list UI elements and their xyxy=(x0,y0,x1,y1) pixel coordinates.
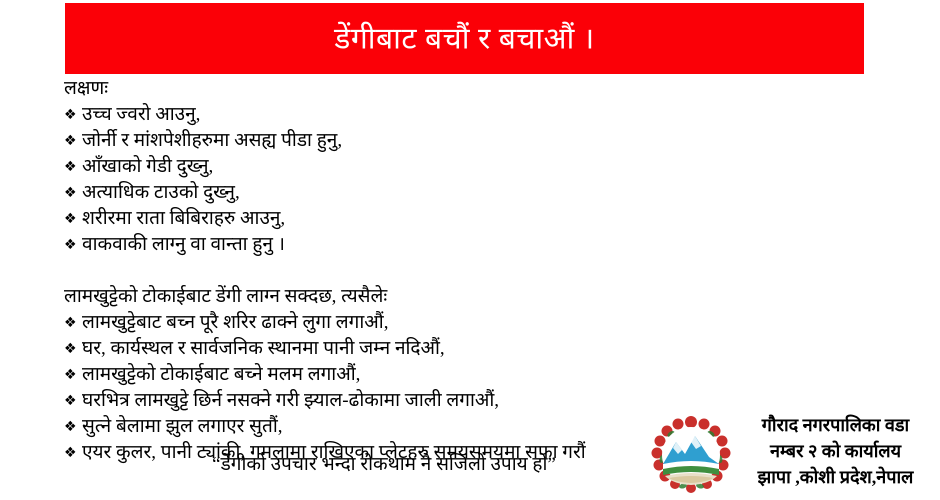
bullet-diamond-icon: ❖ xyxy=(64,414,77,440)
list-item-label: आँखाको गेडी दुख्नु, xyxy=(82,156,213,177)
title-banner: डेंगीबाट बचौं र बचाऔं । xyxy=(65,3,864,74)
bullet-diamond-icon: ❖ xyxy=(64,180,77,206)
list-item-label: उच्च ज्वरो आउनु, xyxy=(82,104,200,125)
bullet-diamond-icon: ❖ xyxy=(64,232,77,258)
bullet-diamond-icon: ❖ xyxy=(64,362,77,388)
office-address-line-2: नम्बर २ को कार्यालय xyxy=(733,438,938,464)
symptoms-section: लक्षणः ❖ उच्च ज्वरो आउनु, ❖ जोर्नी र मां… xyxy=(64,76,764,258)
list-item: ❖ आँखाको गेडी दुख्नु, xyxy=(64,154,764,180)
office-address-line-3: झापा ,कोशी प्रदेश,नेपाल xyxy=(733,464,938,490)
bullet-diamond-icon: ❖ xyxy=(64,336,77,362)
list-item: ❖ वाकवाकी लाग्नु वा वान्ता हुनु । xyxy=(64,232,764,258)
list-item: ❖ लामखुट्टेबाट बच्न पूरै शरिर ढाक्ने लुग… xyxy=(64,310,764,336)
symptoms-heading: लक्षणः xyxy=(64,76,764,102)
poster-body: लक्षणः ❖ उच्च ज्वरो आउनु, ❖ जोर्नी र मां… xyxy=(64,76,764,466)
bullet-diamond-icon: ❖ xyxy=(64,388,77,414)
prevention-heading: लामखुट्टेको टोकाईबाट डेंगी लाग्न सक्दछ, … xyxy=(64,284,764,310)
bullet-diamond-icon: ❖ xyxy=(64,154,77,180)
list-item: ❖ घर, कार्यस्थल र सार्वजनिक स्थानमा पानी… xyxy=(64,336,764,362)
list-item-label: शरीरमा राता बिबिराहरु आउनु, xyxy=(82,208,285,229)
list-item: ❖ उच्च ज्वरो आउनु, xyxy=(64,102,764,128)
nepal-government-emblem-icon xyxy=(647,414,735,500)
office-address-line-1: गौराद नगरपालिका वडा xyxy=(733,412,938,438)
bullet-diamond-icon: ❖ xyxy=(64,102,77,128)
closing-quote: “डेंगीको उपचार भन्दा रोकथाम नै सजिलो उपा… xyxy=(64,452,704,478)
list-item-label: लामखुट्टेबाट बच्न पूरै शरिर ढाक्ने लुगा … xyxy=(82,312,388,333)
poster-title: डेंगीबाट बचौं र बचाऔं । xyxy=(65,22,864,55)
bullet-diamond-icon: ❖ xyxy=(64,310,77,336)
list-item: ❖ शरीरमा राता बिबिराहरु आउनु, xyxy=(64,206,764,232)
section-spacer xyxy=(64,258,764,284)
list-item-label: घरभित्र लामखुट्टे छिर्न नसक्ने गरी झ्याल… xyxy=(82,390,499,411)
list-item: ❖ जोर्नी र मांशपेशीहरुमा असह्य पीडा हुनु… xyxy=(64,128,764,154)
list-item-label: वाकवाकी लाग्नु वा वान्ता हुनु । xyxy=(82,234,285,255)
office-address-block: गौराद नगरपालिका वडा नम्बर २ को कार्यालय … xyxy=(733,412,938,490)
list-item-label: घर, कार्यस्थल र सार्वजनिक स्थानमा पानी ज… xyxy=(82,338,445,359)
list-item-label: जोर्नी र मांशपेशीहरुमा असह्य पीडा हुनु, xyxy=(82,130,342,151)
bullet-diamond-icon: ❖ xyxy=(64,206,77,232)
list-item-label: लामखुट्टेको टोकाईबाट बच्ने मलम लगाऔं, xyxy=(82,364,360,385)
list-item: ❖ घरभित्र लामखुट्टे छिर्न नसक्ने गरी झ्य… xyxy=(64,388,764,414)
list-item: ❖ लामखुट्टेको टोकाईबाट बच्ने मलम लगाऔं, xyxy=(64,362,764,388)
list-item-label: अत्याधिक टाउको दुख्नु, xyxy=(82,182,240,203)
bullet-diamond-icon: ❖ xyxy=(64,128,77,154)
symptoms-list: ❖ उच्च ज्वरो आउनु, ❖ जोर्नी र मांशपेशीहर… xyxy=(64,102,764,258)
list-item-label: सुत्ने बेलामा झुल लगाएर सुतौं, xyxy=(82,416,283,437)
list-item: ❖ अत्याधिक टाउको दुख्नु, xyxy=(64,180,764,206)
